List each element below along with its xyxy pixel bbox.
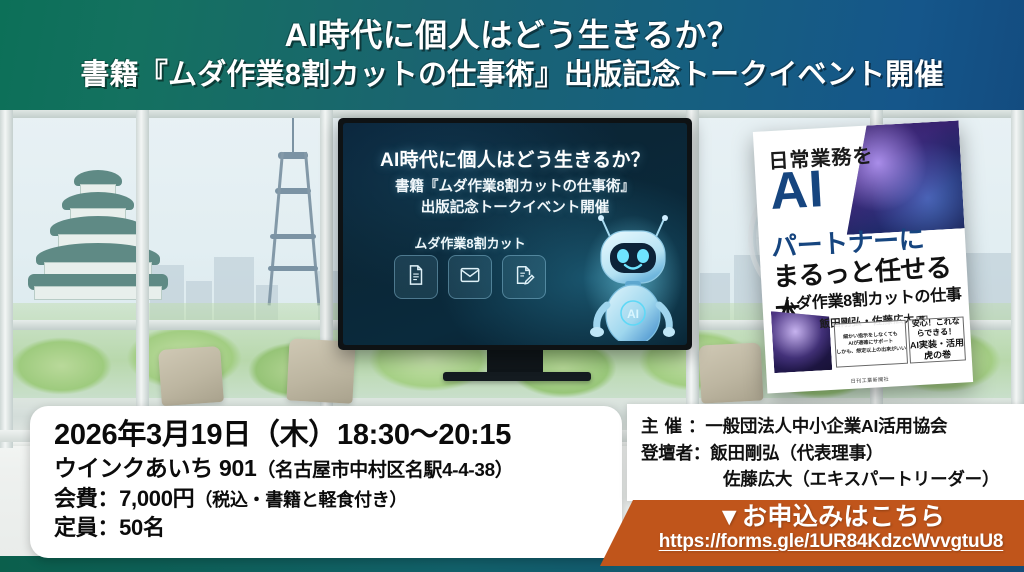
slide-icon-tiles [365, 255, 575, 299]
organizer-host-row: 主催：一般団法人中小企業AI活用協会 [641, 413, 1024, 440]
organizer-speaker-label: 登壇者： [641, 443, 710, 463]
book-title-ai: AI [769, 166, 826, 217]
presentation-monitor: AI時代に個人はどう生きるか？ 書籍『ムダ作業8割カットの仕事術』 出版記念トー… [338, 118, 692, 350]
chair [699, 342, 764, 403]
event-fee-row: 会費：7,000円（税込・書籍と軽食付き） [54, 484, 622, 513]
tv-screen: AI時代に個人はどう生きるか？ 書籍『ムダ作業8割カットの仕事術』 出版記念トー… [343, 123, 687, 345]
document-icon [405, 264, 427, 291]
window-mullion [1011, 108, 1024, 448]
ai-robot-icon: AI [583, 213, 683, 341]
tile-document [394, 255, 438, 299]
chair [158, 346, 224, 406]
event-poster: AI時代に個人はどう生きるか？ 書籍『ムダ作業8割カットの仕事術』 出版記念トー… [0, 0, 1024, 572]
slide-title: AI時代に個人はどう生きるか？ [343, 145, 687, 172]
book-blurb-left: 細かい指示をしなくても AIが適確にサポート しかも、想定以上の出来がいい [834, 320, 908, 368]
poster-header: AI時代に個人はどう生きるか？ 書籍『ムダ作業8割カットの仕事術』出版記念トーク… [0, 0, 1024, 110]
organizer-speaker-row-2: 佐藤広大（エキスパートリーダー） [641, 466, 1024, 493]
tile-edit [502, 255, 546, 299]
organizer-host-label: 主催 [641, 416, 688, 436]
book-blurb-left-line3: しかも、想定以上の出来がいい [836, 345, 906, 356]
event-venue: ウインクあいち 901 [54, 455, 256, 481]
nagoya-tv-tower-icon [268, 116, 318, 306]
window-mullion [0, 108, 13, 448]
book-cover: 日常業務を AI パートナーに まるっと任せる本 ムダ作業8割カットの仕事術 飯… [753, 120, 973, 393]
event-fee: 会費：7,000円 [54, 486, 194, 511]
event-venue-address: （名古屋市中村区名駅4-4-38） [256, 459, 513, 480]
slide-caption: ムダ作業8割カット [365, 233, 575, 252]
event-venue-row: ウインクあいち 901（名古屋市中村区名駅4-4-38） [54, 454, 622, 484]
organizer-host-separator: ： [688, 416, 705, 436]
page-subtitle: 書籍『ムダ作業8割カットの仕事術』出版記念トークイベント開催 [80, 60, 943, 92]
book-cover-artwork [841, 120, 965, 234]
organizer-host-value: 一般団法人中小企業AI活用協会 [705, 416, 947, 436]
slide-subtitle-1: 書籍『ムダ作業8割カットの仕事術』 [343, 175, 687, 196]
cta-heading: ▼お申込みはこちら [638, 503, 1024, 531]
book-blurb-right: 安心！これならできる！ AI実装・活用 虎の巻 [908, 316, 966, 363]
event-fee-note: （税込・書籍と軽食付き） [194, 490, 407, 510]
event-details-panel: 2026年3月19日（木）18:30〜20:15 ウインクあいち 901（名古屋… [30, 406, 622, 558]
event-capacity: 定員：50名 [54, 513, 622, 542]
organizer-speaker-2: 佐藤広大（エキスパートリーダー） [723, 469, 999, 489]
svg-text:AI: AI [627, 307, 639, 321]
registration-cta-banner[interactable]: ▼お申込みはこちら https://forms.gle/1UR84KdzcWvv… [600, 500, 1024, 566]
organizer-panel: 主催：一般団法人中小企業AI活用協会 登壇者：飯田剛弘（代表理事） 佐藤広大（エ… [627, 404, 1024, 501]
book-blurb-right-line2: AI実装・活用 虎の巻 [910, 337, 965, 363]
registration-url-link[interactable]: https://forms.gle/1UR84KdzcWvvgtuU8 [638, 531, 1024, 553]
event-datetime: 2026年3月19日（木）18:30〜20:15 [54, 417, 622, 454]
document-edit-icon [513, 264, 535, 291]
tile-mail [448, 255, 492, 299]
tv-stand-base [443, 372, 591, 381]
window-mullion [136, 108, 149, 448]
page-title: AI時代に個人はどう生きるか？ [285, 18, 740, 53]
organizer-speaker-1: 飯田剛弘（代表理事） [710, 443, 883, 463]
envelope-icon [459, 264, 481, 291]
organizer-speaker-row-1: 登壇者：飯田剛弘（代表理事） [641, 440, 1024, 467]
